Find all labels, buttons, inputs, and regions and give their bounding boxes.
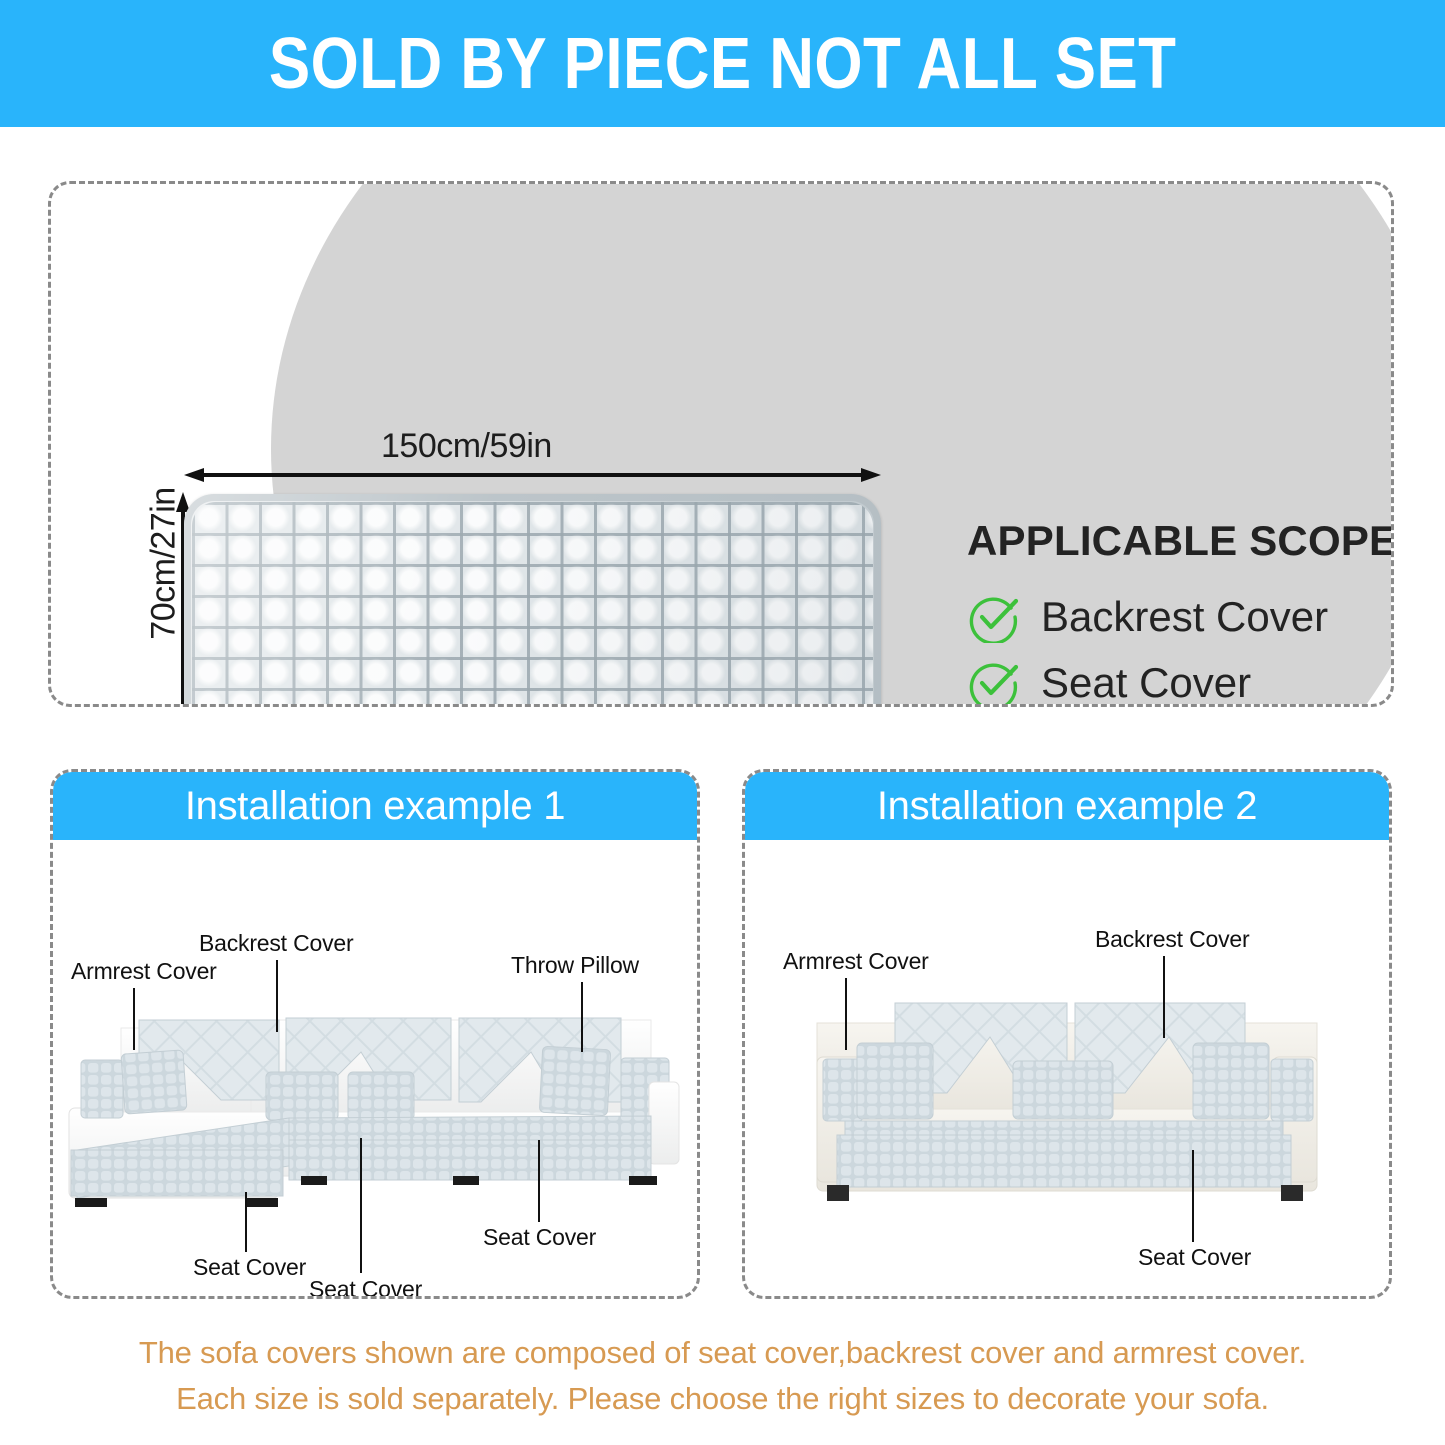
applicable-scope-block: APPLICABLE SCOPE: Backrest Cover Seat Co… bbox=[967, 517, 1394, 707]
leader-line bbox=[581, 982, 583, 1052]
check-circle-icon bbox=[967, 591, 1019, 643]
card-2-title: Installation example 2 bbox=[877, 784, 1257, 829]
leader-line bbox=[1163, 956, 1165, 1038]
width-dimension-label: 150cm/59in bbox=[381, 427, 552, 466]
three-seat-sofa-illustration bbox=[775, 985, 1365, 1235]
card-1-body: Armrest Cover Backrest Cover Throw Pillo… bbox=[53, 840, 697, 1299]
scope-item-seat-cover: Seat Cover bbox=[967, 657, 1394, 707]
leader-line bbox=[245, 1192, 247, 1252]
footer-disclaimer: The sofa covers shown are composed of se… bbox=[0, 1330, 1445, 1422]
card-1-title: Installation example 1 bbox=[185, 784, 565, 829]
installation-example-2-card: Installation example 2 bbox=[742, 769, 1392, 1299]
callout-label: Seat Cover bbox=[1138, 1244, 1251, 1271]
callout-label: Seat Cover bbox=[193, 1254, 306, 1281]
card-1-header: Installation example 1 bbox=[53, 772, 697, 840]
installation-example-1-card: Installation example 1 bbox=[50, 769, 700, 1299]
header-banner: SOLD BY PIECE NOT ALL SET bbox=[0, 0, 1445, 127]
callout-label: Seat Cover bbox=[309, 1276, 422, 1299]
leader-line bbox=[845, 978, 847, 1050]
banner-title: SOLD BY PIECE NOT ALL SET bbox=[269, 23, 1177, 105]
sectional-sofa-illustration bbox=[61, 990, 691, 1240]
product-spec-panel: 150cm/59in 70cm/27in APPLICABLE SCOPE: B… bbox=[48, 181, 1394, 707]
callout-label: Seat Cover bbox=[483, 1224, 596, 1251]
card-2-header: Installation example 2 bbox=[745, 772, 1389, 840]
applicable-scope-title: APPLICABLE SCOPE: bbox=[967, 517, 1394, 565]
width-dimension-arrow bbox=[184, 467, 881, 483]
callout-label: Armrest Cover bbox=[71, 958, 217, 985]
leader-line bbox=[1192, 1150, 1194, 1242]
product-quilted-pad bbox=[184, 494, 881, 707]
scope-item-label: Seat Cover bbox=[1041, 659, 1251, 707]
check-circle-icon bbox=[967, 657, 1019, 707]
callout-label: Throw Pillow bbox=[511, 952, 639, 979]
footer-line-1: The sofa covers shown are composed of se… bbox=[0, 1330, 1445, 1376]
callout-label: Backrest Cover bbox=[199, 930, 353, 957]
card-2-body: Armrest Cover Backrest Cover Seat Cover bbox=[745, 840, 1389, 1299]
leader-line bbox=[133, 988, 135, 1050]
leader-line bbox=[360, 1138, 362, 1273]
leader-line bbox=[538, 1140, 540, 1222]
pad-quilt-pattern bbox=[192, 502, 873, 707]
callout-label: Armrest Cover bbox=[783, 948, 929, 975]
scope-item-label: Backrest Cover bbox=[1041, 593, 1328, 641]
footer-line-2: Each size is sold separately. Please cho… bbox=[0, 1376, 1445, 1422]
callout-label: Backrest Cover bbox=[1095, 926, 1249, 953]
leader-line bbox=[276, 960, 278, 1032]
scope-item-backrest-cover: Backrest Cover bbox=[967, 591, 1394, 643]
